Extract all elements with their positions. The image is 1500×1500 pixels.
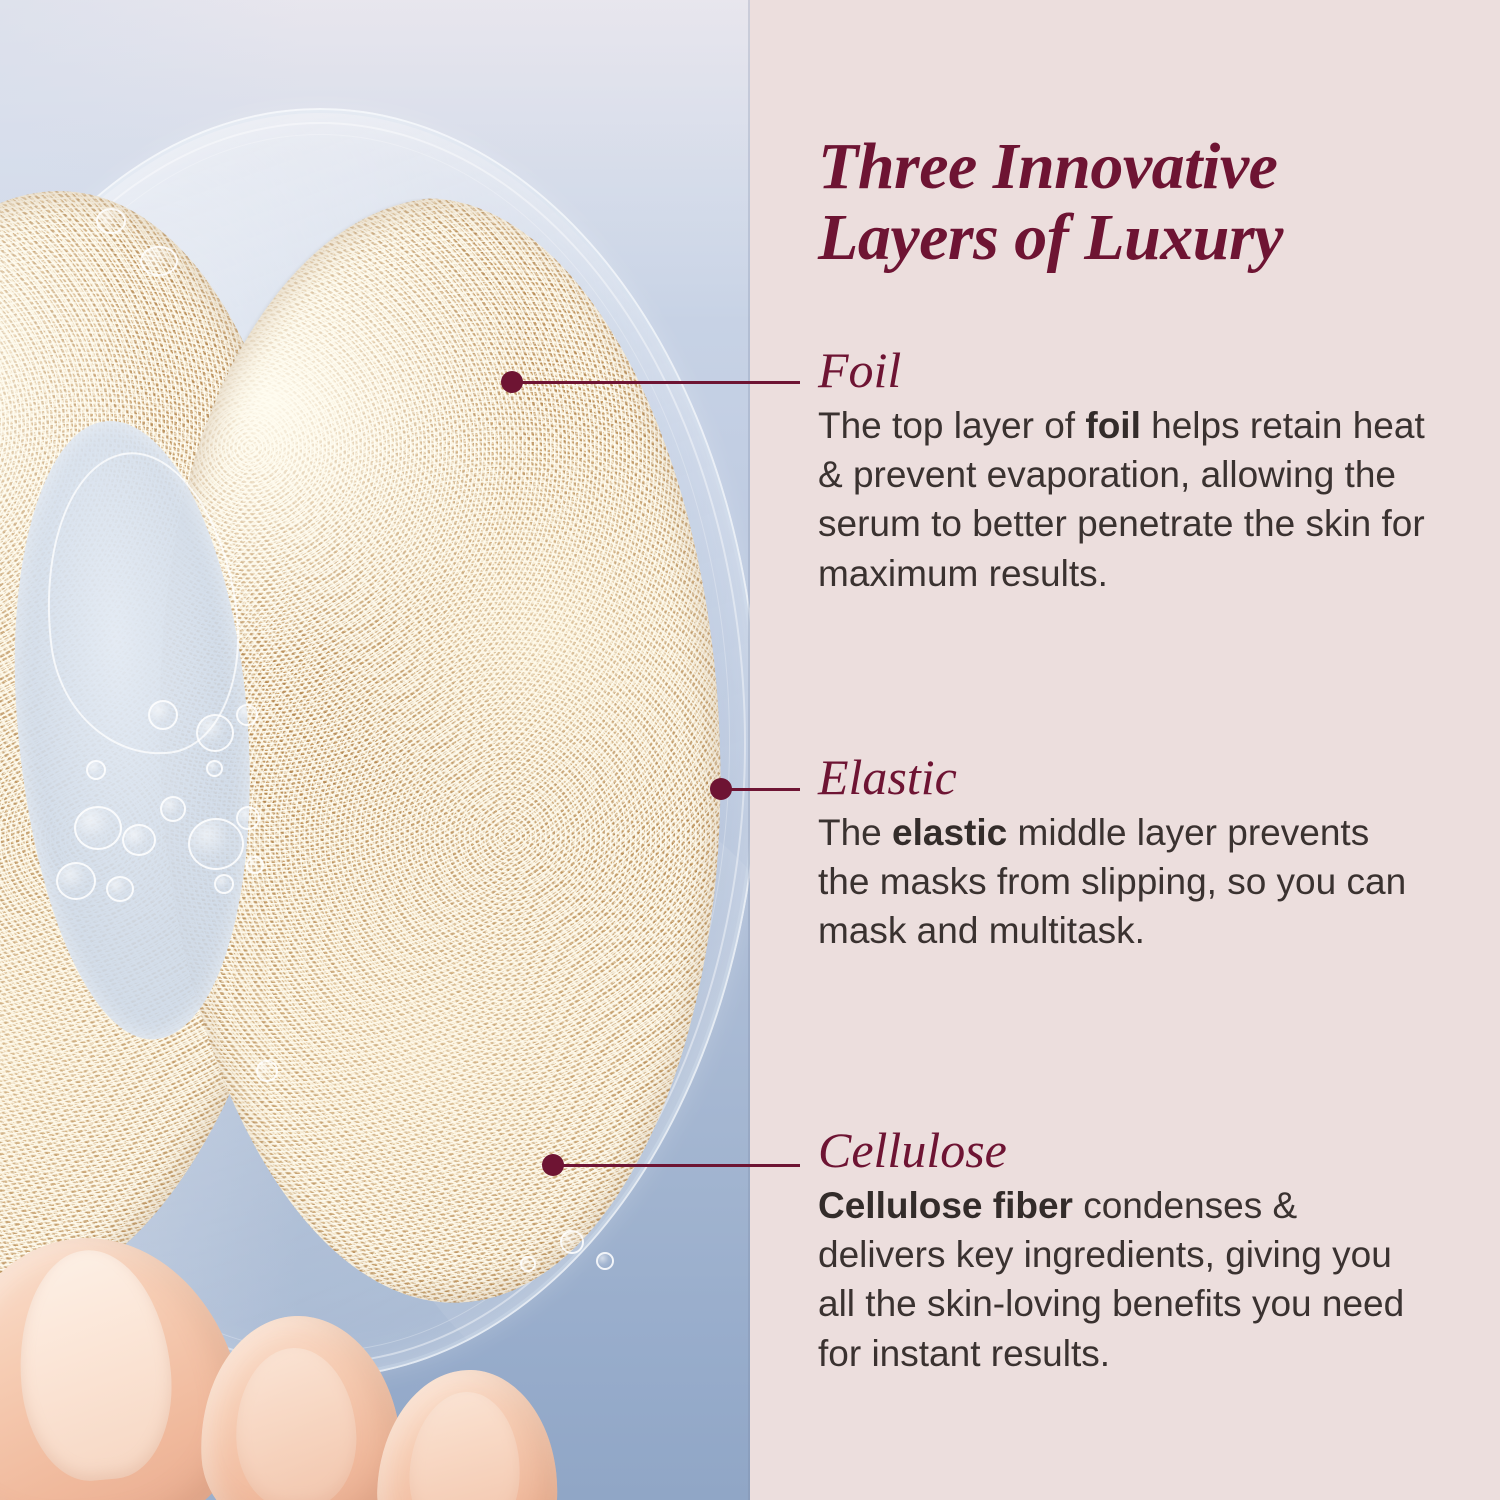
gel-bubble — [140, 246, 178, 276]
gel-bubble — [246, 856, 264, 874]
foil-leader-line — [520, 381, 800, 384]
text-panel: Three Innovative Layers of Luxury Foil T… — [750, 0, 1500, 1500]
foil-body-bold: foil — [1085, 405, 1140, 446]
section-title-cellulose: Cellulose — [818, 1125, 1458, 1175]
product-infographic: Three Innovative Layers of Luxury Foil T… — [0, 0, 1500, 1500]
gel-bubble — [122, 824, 156, 856]
elastic-leader-line — [730, 788, 800, 791]
elastic-leader-dot-icon — [710, 778, 732, 800]
section-body-cellulose: Cellulose fiber condenses & delivers key… — [818, 1181, 1428, 1378]
page-title: Three Innovative Layers of Luxury — [818, 132, 1448, 273]
gel-bubble — [236, 806, 260, 830]
gel-bubble — [148, 700, 178, 730]
gel-bubble — [160, 796, 186, 822]
foil-leader-dot-icon — [501, 371, 523, 393]
elastic-body-bold: elastic — [892, 812, 1007, 853]
gel-bubble — [86, 760, 106, 780]
section-body-elastic: The elastic middle layer prevents the ma… — [818, 808, 1428, 956]
gel-bubble — [520, 1256, 536, 1272]
section-body-foil: The top layer of foil helps retain heat … — [818, 401, 1428, 598]
gel-bubble — [236, 704, 258, 726]
foil-body-prefix: The top layer of — [818, 405, 1085, 446]
section-title-elastic: Elastic — [818, 752, 1458, 802]
gel-bubble — [206, 760, 223, 777]
gel-bubble — [196, 714, 234, 752]
section-title-foil: Foil — [818, 345, 1458, 395]
gel-bubble — [596, 1252, 614, 1270]
gel-bubble — [256, 1060, 278, 1082]
product-photo — [0, 0, 750, 1500]
section-foil: Foil The top layer of foil helps retain … — [818, 345, 1458, 598]
elastic-body-prefix: The — [818, 812, 892, 853]
gel-bubble — [106, 876, 134, 902]
cellulose-body-bold: Cellulose fiber — [818, 1185, 1073, 1226]
section-cellulose: Cellulose Cellulose fiber condenses & de… — [818, 1125, 1458, 1378]
gel-bubble — [188, 818, 244, 870]
gel-bubble — [96, 208, 126, 234]
gel-bubble — [214, 874, 234, 894]
gel-bubble — [74, 806, 122, 850]
cellulose-leader-line — [562, 1164, 800, 1167]
cellulose-leader-dot-icon — [542, 1154, 564, 1176]
gel-bubble — [56, 862, 96, 900]
section-elastic: Elastic The elastic middle layer prevent… — [818, 752, 1458, 956]
gel-bubble — [560, 1230, 584, 1254]
